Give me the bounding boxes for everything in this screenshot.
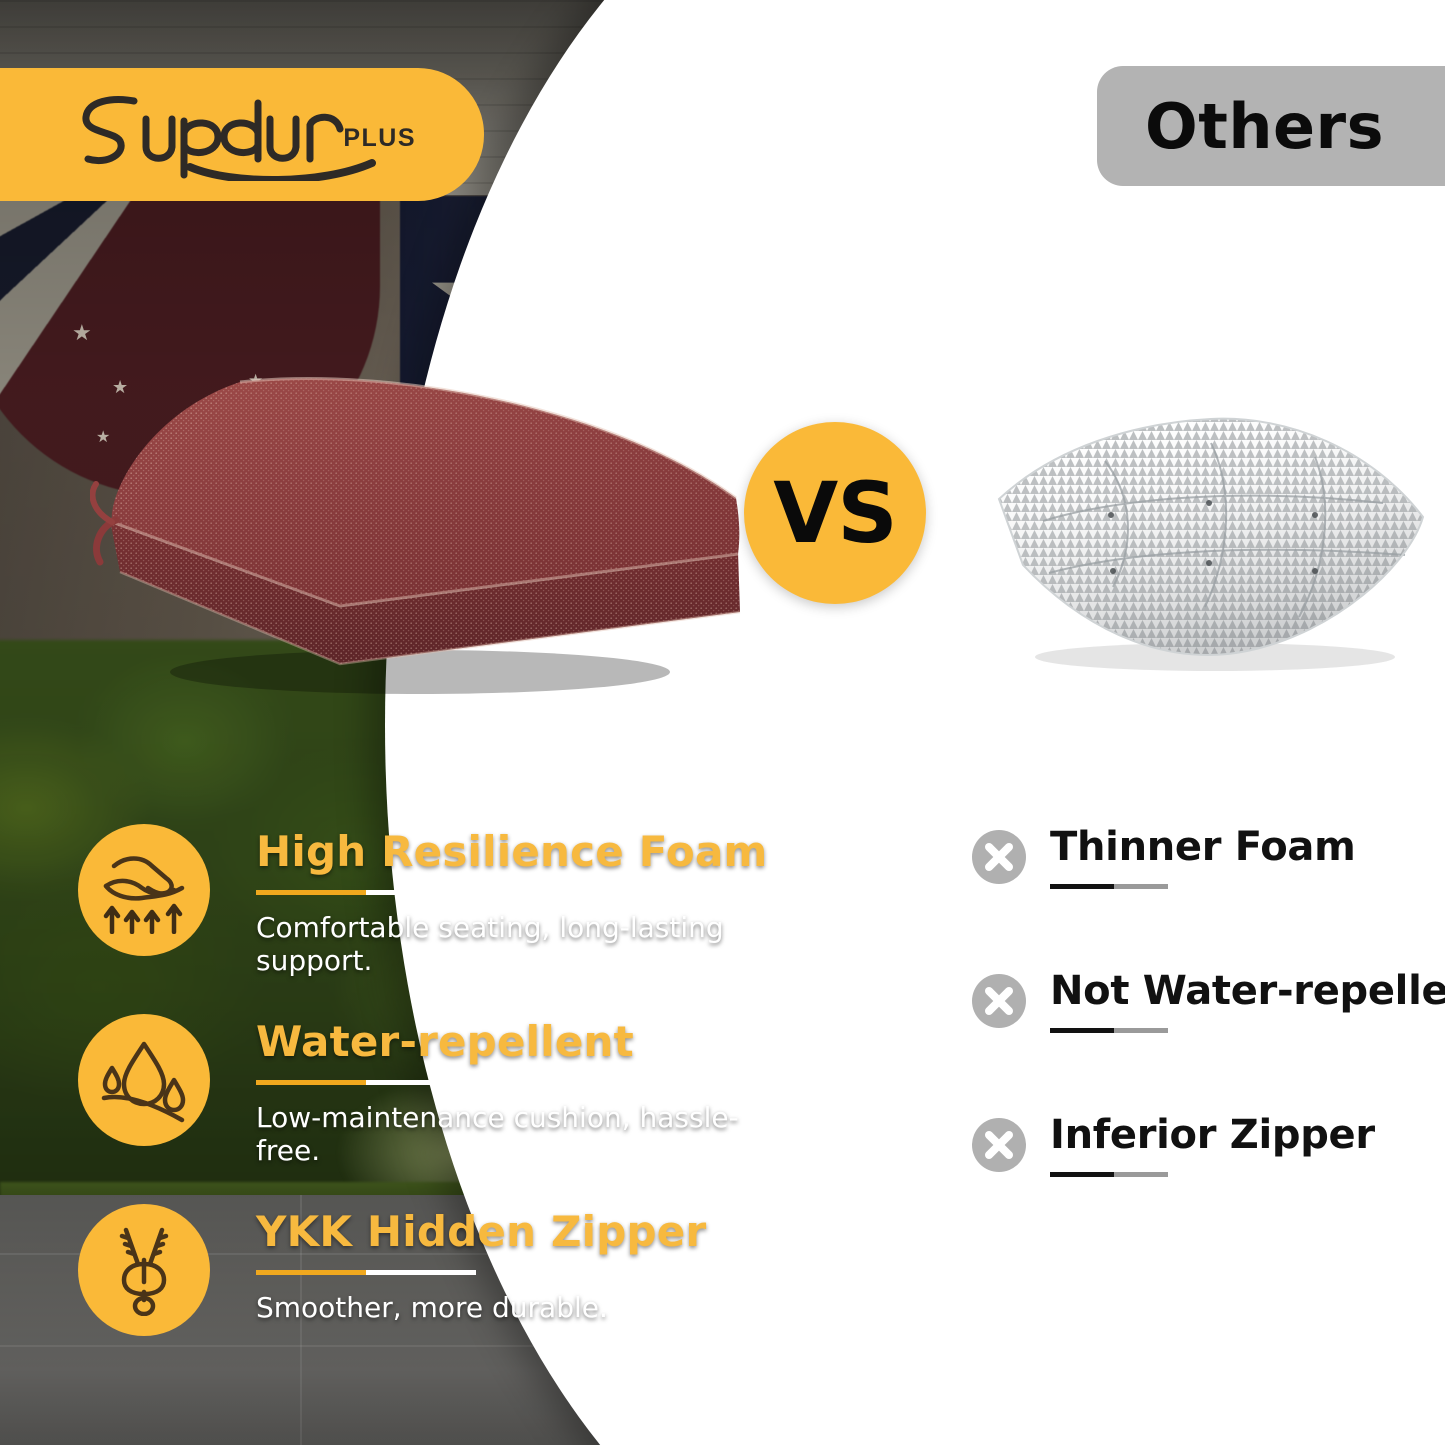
zipper-icon [78,1204,210,1336]
drawback-title: Thinner Foam [1050,826,1445,868]
feature-item: High Resilience Foam Comfortable seating… [78,818,778,1008]
drawback-title: Not Water-repellent [1050,970,1445,1012]
vs-badge: VS [744,422,926,604]
competitor-product-image [985,395,1435,680]
feature-underline [256,890,476,895]
drawback-underline [1050,1028,1168,1033]
others-badge: Others [1097,66,1445,186]
brand-suffix: PLUS [343,124,416,153]
feature-description: Low-maintenance cushion, hassle-free. [256,1101,776,1167]
others-label: Others [1145,90,1384,163]
feature-description: Comfortable seating, long-lasting suppor… [256,911,776,977]
drawback-item: Inferior Zipper [972,1114,1442,1258]
feature-title: High Resilience Foam [256,830,776,874]
infographic-canvas: ★ ★ ★ ★ ★ ★ [0,0,1445,1445]
feature-title: Water-repellent [256,1020,776,1064]
drawback-title: Inferior Zipper [1050,1114,1445,1156]
drawback-text: Inferior Zipper [1050,1114,1445,1177]
cross-circle-icon [972,830,1026,884]
feature-title: YKK Hidden Zipper [256,1210,776,1254]
feature-underline [256,1270,476,1275]
feature-text: YKK Hidden Zipper Smoother, more durable… [256,1210,776,1324]
cross-circle-icon [972,974,1026,1028]
our-product-image [90,372,750,702]
drawback-underline [1050,884,1168,889]
feature-description: Smoother, more durable. [256,1291,776,1324]
drawback-item: Not Water-repellent [972,970,1442,1114]
drawback-underline [1050,1172,1168,1177]
water-droplet-repel-icon [78,1014,210,1146]
brand-logo: PLUS [72,89,422,181]
feature-text: High Resilience Foam Comfortable seating… [256,830,776,977]
cross-circle-icon [972,1118,1026,1172]
drawback-text: Not Water-repellent [1050,970,1445,1033]
brand-badge: PLUS [0,68,484,201]
hand-support-arrows-icon [78,824,210,956]
drawback-item: Thinner Foam [972,826,1442,970]
feature-list: High Resilience Foam Comfortable seating… [78,818,778,1388]
feature-item: Water-repellent Low-maintenance cushion,… [78,1008,778,1198]
feature-underline [256,1080,476,1085]
drawback-list: Thinner Foam Not Water-repellent [972,826,1442,1258]
feature-text: Water-repellent Low-maintenance cushion,… [256,1020,776,1167]
feature-item: YKK Hidden Zipper Smoother, more durable… [78,1198,778,1388]
drawback-text: Thinner Foam [1050,826,1445,889]
vs-label: VS [773,464,897,562]
